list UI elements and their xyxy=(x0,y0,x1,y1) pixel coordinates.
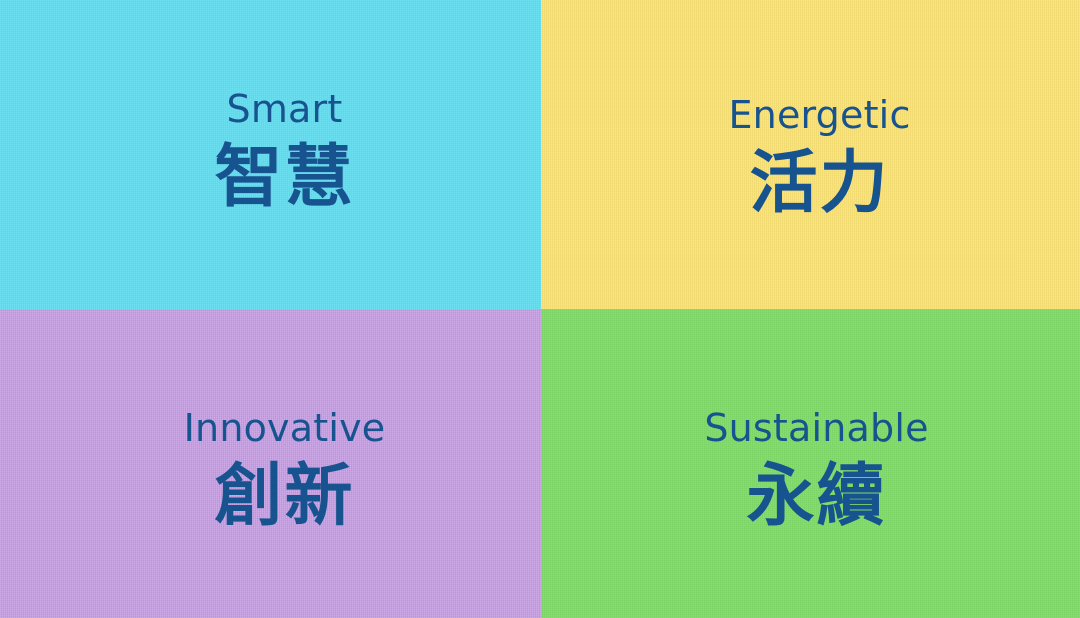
english-label-sustainable: Sustainable xyxy=(704,409,928,447)
quadrant-energetic: Energetic 活力 xyxy=(541,0,1080,309)
word-block-sustainable: Sustainable 永續 xyxy=(704,409,928,531)
chinese-label-sustainable: 永續 xyxy=(704,463,928,531)
quadrant-innovative: Innovative 創新 xyxy=(0,309,541,618)
quadrant-sustainable: Sustainable 永續 xyxy=(541,309,1080,618)
english-label-smart: Smart xyxy=(214,90,354,128)
word-block-innovative: Innovative 創新 xyxy=(184,409,386,531)
chinese-label-smart: 智慧 xyxy=(214,144,354,212)
english-label-innovative: Innovative xyxy=(184,409,386,447)
chinese-label-energetic: 活力 xyxy=(728,150,910,218)
quadrant-smart: Smart 智慧 xyxy=(0,0,541,309)
english-label-energetic: Energetic xyxy=(728,96,910,134)
chinese-label-innovative: 創新 xyxy=(184,463,386,531)
word-block-energetic: Energetic 活力 xyxy=(728,96,910,218)
word-block-smart: Smart 智慧 xyxy=(214,90,354,212)
brand-values-poster: Smart 智慧 Energetic 活力 Innovative 創新 Sust… xyxy=(0,0,1080,618)
